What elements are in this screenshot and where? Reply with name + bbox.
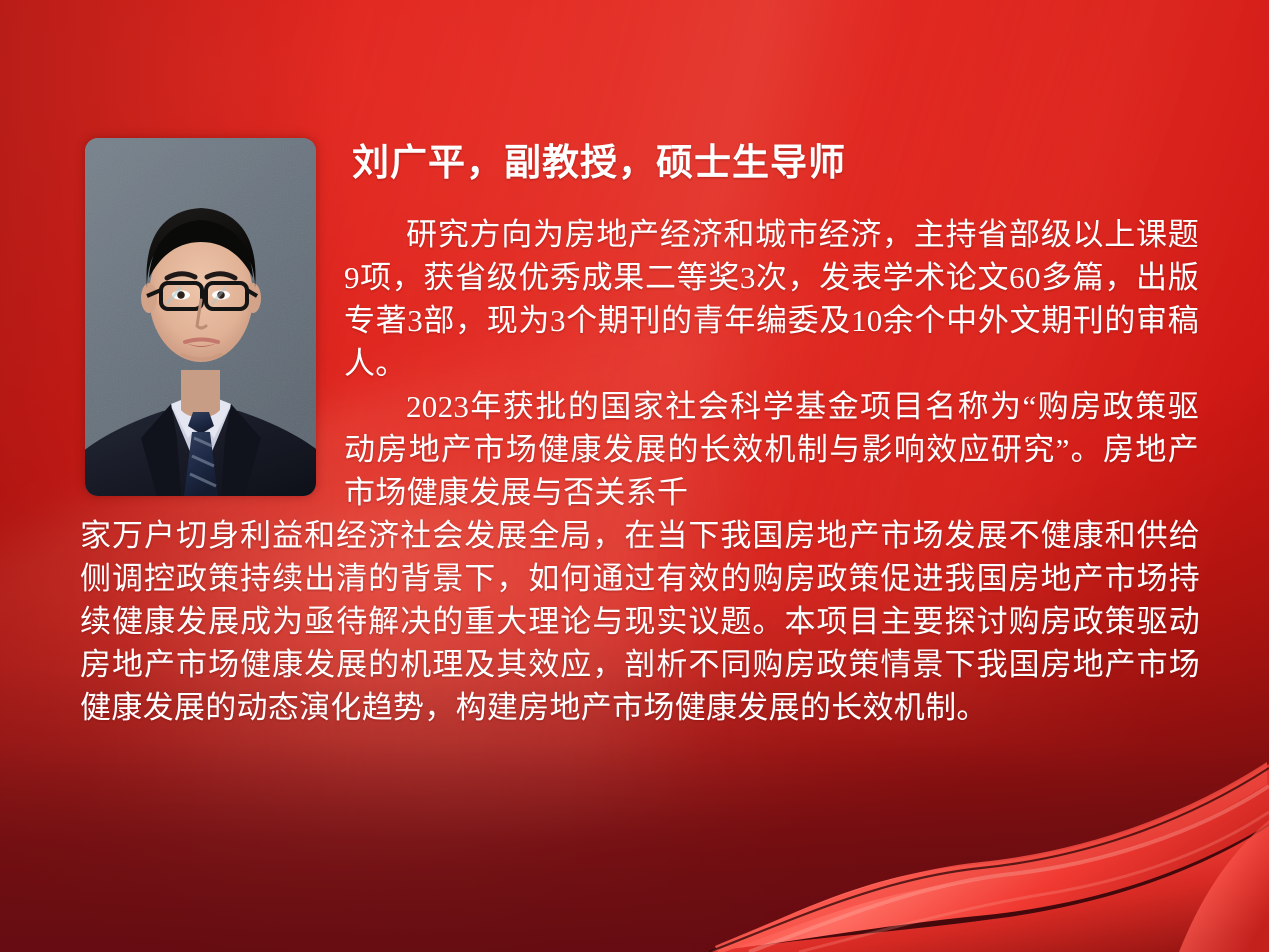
paragraph-research-areas: 研究方向为房地产经济和城市经济，主持省部级以上课题9项，获省级优秀成果二等奖3次…: [344, 213, 1199, 385]
page-title: 刘广平，副教授，硕士生导师: [352, 141, 846, 185]
intro-text-fullwidth: 家万户切身利益和经济社会发展全局，在当下我国房地产市场发展不健康和供给侧调控政策…: [80, 514, 1200, 729]
portrait-illustration: [85, 138, 316, 496]
portrait-photo: [85, 138, 316, 496]
paragraph-grant-body: 家万户切身利益和经济社会发展全局，在当下我国房地产市场发展不健康和供给侧调控政策…: [80, 514, 1200, 729]
slide-root: 刘广平，副教授，硕士生导师 研究方向为房地产经济和城市经济，主持省部级以上课题9…: [0, 0, 1269, 952]
portrait-neck: [181, 370, 220, 418]
intro-text-column: 研究方向为房地产经济和城市经济，主持省部级以上课题9项，获省级优秀成果二等奖3次…: [344, 213, 1199, 514]
portrait-ear-left: [141, 283, 157, 313]
paragraph-grant-intro: 2023年获批的国家社会科学基金项目名称为“购房政策驱动房地产市场健康发展的长效…: [344, 385, 1199, 514]
